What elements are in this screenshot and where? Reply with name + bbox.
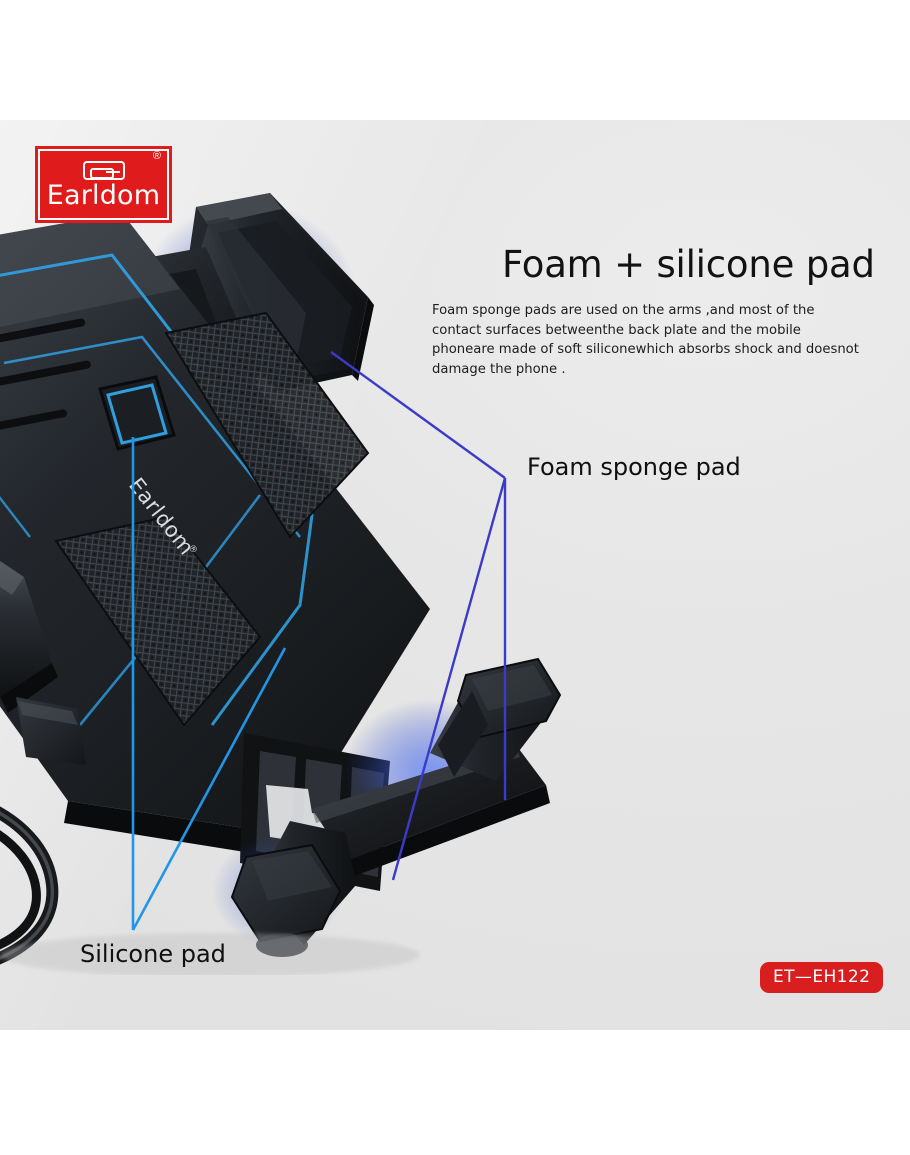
page-title: Foam + silicone pad [502,243,875,286]
model-code-badge: ET—EH122 [760,962,883,993]
earldom-e-mark-icon [83,161,125,180]
callout-label-foam-sponge-pad: Foam sponge pad [527,453,741,481]
brand-logo-text: Earldom [47,182,161,209]
callout-label-silicone-pad: Silicone pad [80,940,226,968]
registered-mark: ® [153,150,161,200]
product-marketing-page: Earldom ® [0,0,910,1155]
description-text: Foam sponge pads are used on the arms ,a… [432,301,860,379]
brand-logo-frame: Earldom [38,149,169,220]
lower-right-clamp-pad [430,659,560,781]
brand-logo: Earldom ® [35,146,172,223]
